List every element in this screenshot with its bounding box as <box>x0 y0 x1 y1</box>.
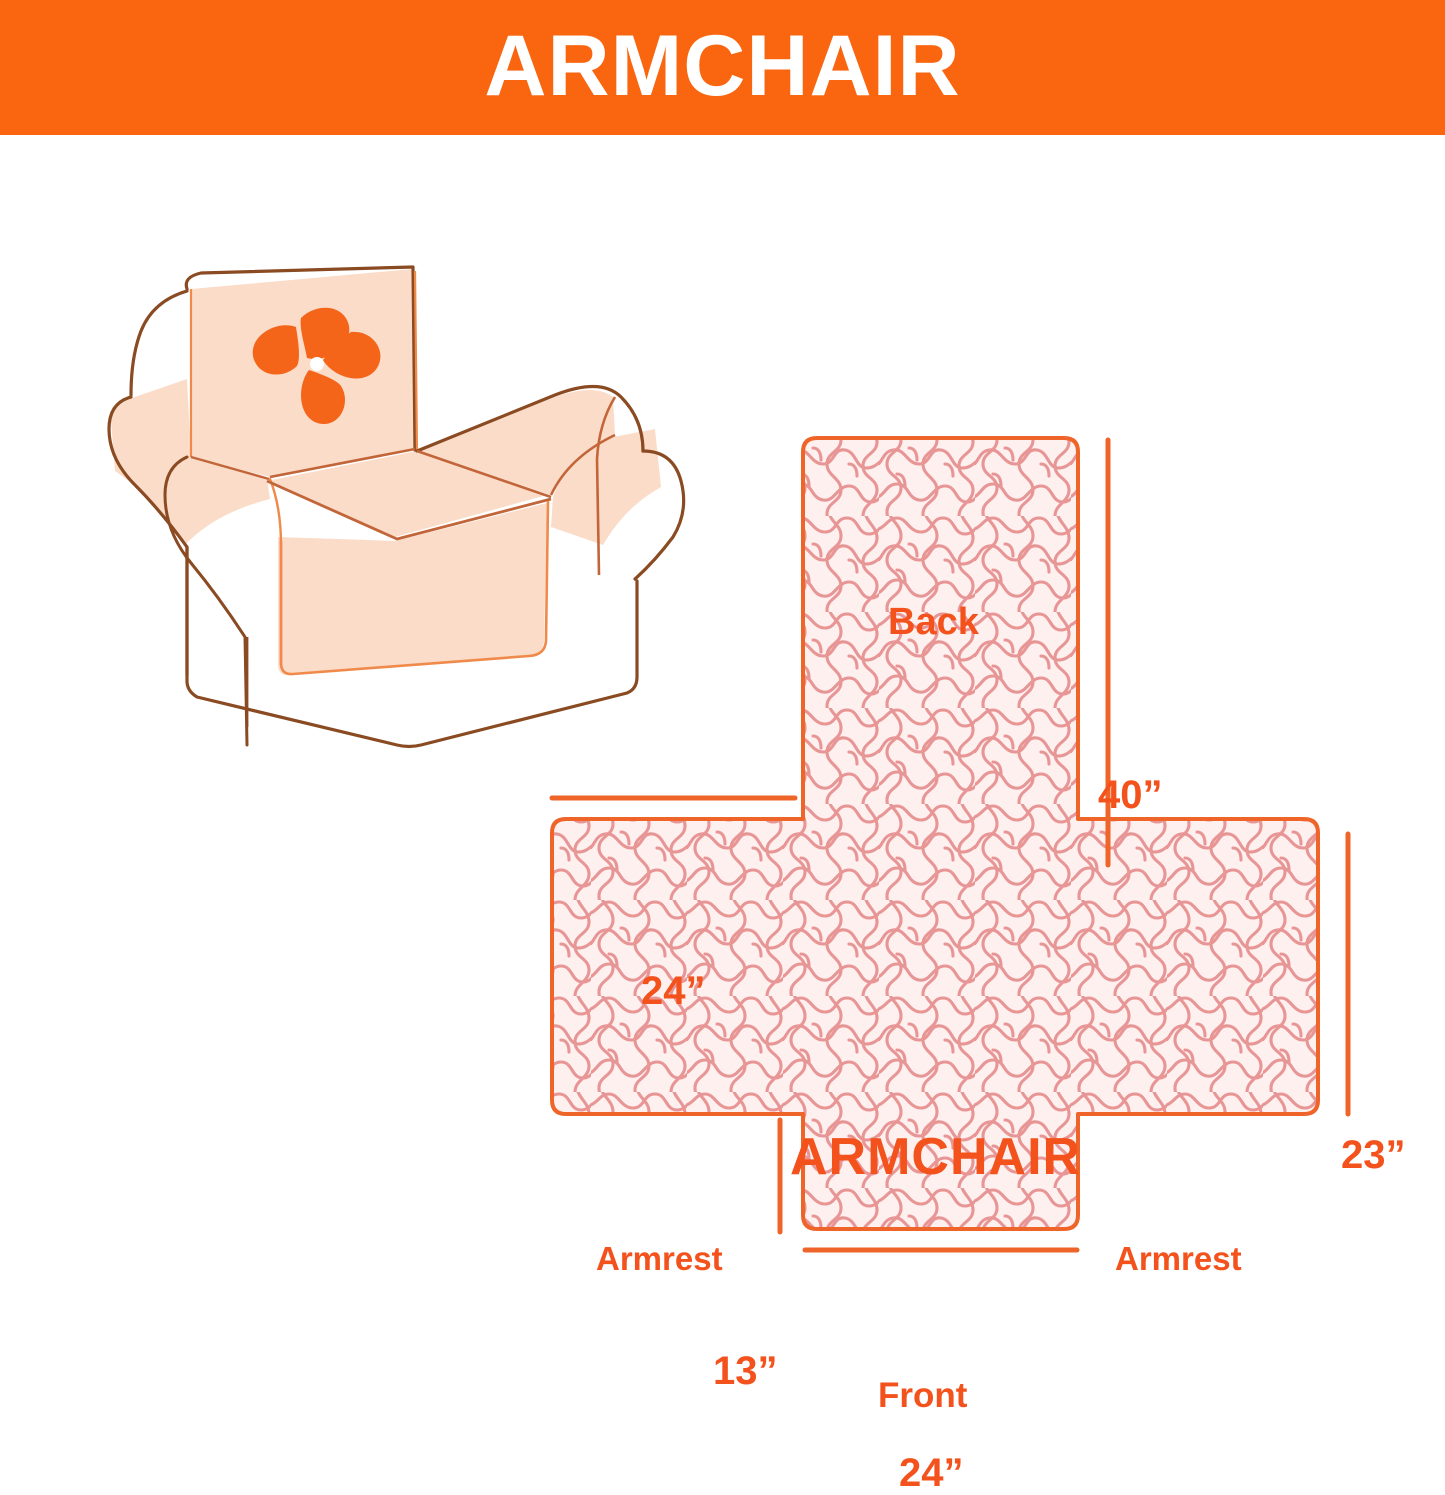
dimension-label-center-height: 23” <box>1341 1135 1406 1175</box>
panel-label-armrest-left: Armrest <box>596 1242 723 1275</box>
diagram-canvas: Back ARMCHAIR Armrest Armrest Front 40” … <box>0 135 1445 1445</box>
panel-label-armrest-right: Armrest <box>1115 1242 1242 1275</box>
header-banner: ARMCHAIR <box>0 0 1445 135</box>
flatlay-cross-diagram <box>495 420 1445 1430</box>
flatlay-svg <box>495 420 1445 1430</box>
chair-left-wing-outline <box>131 291 187 395</box>
dimension-label-armrest-width: 24” <box>641 971 706 1011</box>
panel-label-front: Front <box>878 1378 967 1413</box>
page-title: ARMCHAIR <box>484 23 960 109</box>
dimension-label-front-height: 13” <box>713 1351 778 1391</box>
cover-cross-shape <box>552 438 1318 1229</box>
panel-label-center: ARMCHAIR <box>790 1131 1081 1183</box>
panel-label-back: Back <box>888 603 979 641</box>
dimension-label-back-height: 40” <box>1098 775 1163 815</box>
dimension-label-front-width: 24” <box>899 1453 964 1493</box>
chair-backrest-panel <box>191 269 415 477</box>
